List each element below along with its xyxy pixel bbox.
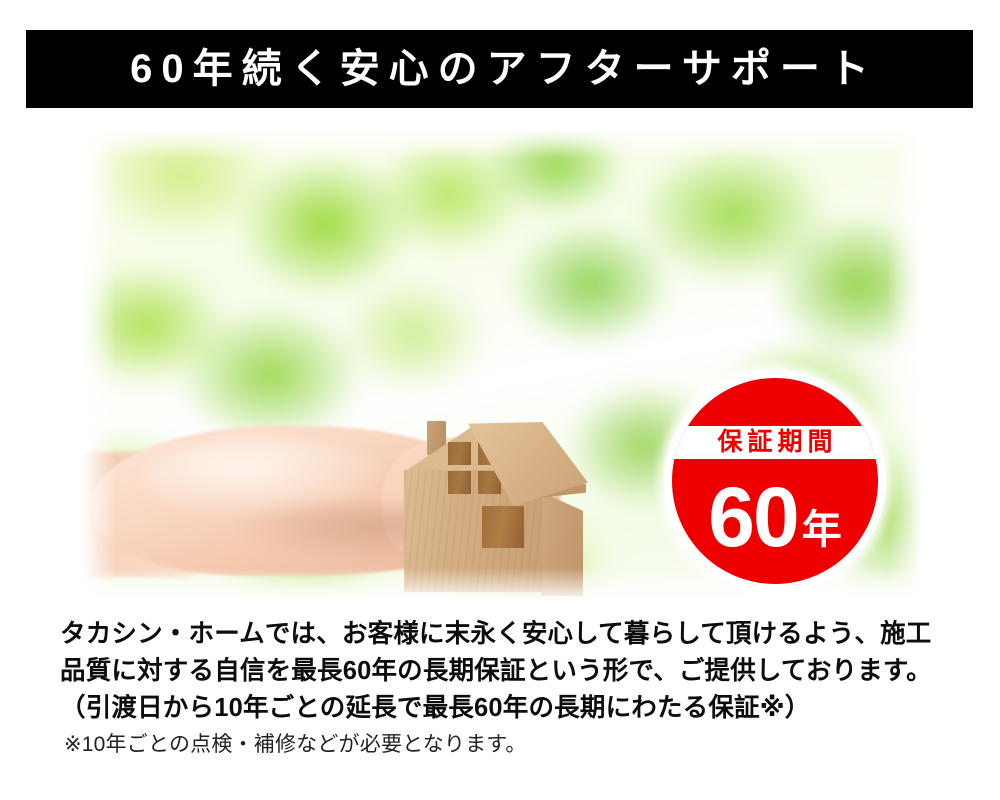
badge-number: 60	[708, 475, 797, 559]
body-copy: タカシン・ホームでは、お客様に末永く安心して暮らして頂けるよう、施工 品質に対す…	[60, 616, 960, 727]
body-line: タカシン・ホームでは、お客様に末永く安心して暮らして頂けるよう、施工	[60, 616, 960, 653]
badge-disc: 保証期間 60 年	[672, 378, 878, 584]
warranty-badge: 保証期間 60 年	[664, 370, 886, 592]
badge-band-label: 保証期間	[712, 430, 837, 455]
badge-band: 保証期間	[672, 426, 878, 459]
body-line: 品質に対する自信を最長60年の長期保証という形で、ご提供しております。	[60, 653, 960, 690]
footnote: ※10年ごとの点検・補修などが必要となります。	[64, 730, 527, 760]
page-title: 60年続く安心のアフターサポート	[121, 49, 878, 89]
badge-unit: 年	[802, 510, 842, 550]
body-line: （引渡日から10年ごとの延長で最長60年の長期にわたる保証※）	[60, 690, 960, 727]
header-bar: 60年続く安心のアフターサポート	[26, 30, 973, 108]
badge-years: 60 年	[672, 462, 878, 572]
